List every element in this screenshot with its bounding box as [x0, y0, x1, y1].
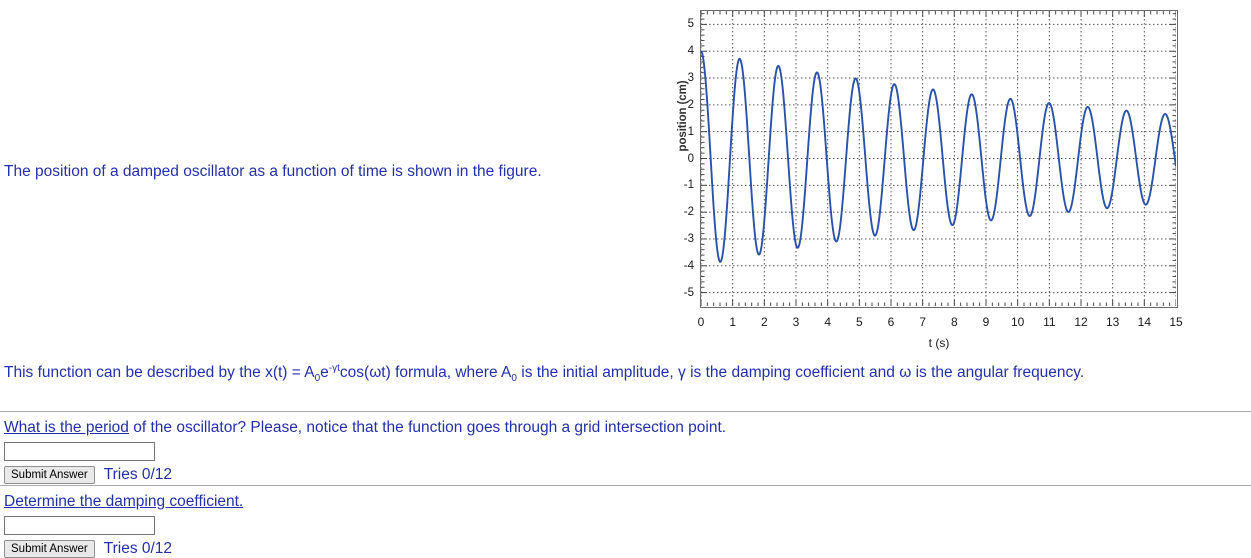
y-tick-label: 0: [688, 153, 694, 165]
formula-sup-1: -γt: [329, 363, 340, 374]
damped-oscillator-figure: position (cm) -5-4-3-2-10123450123456789…: [652, 0, 1192, 358]
formula-part-3: cos(ωt) formula, where A: [340, 364, 511, 381]
question-link-damping[interactable]: Determine the damping coefficient.: [4, 493, 243, 510]
answer-input-damping[interactable]: [4, 516, 155, 535]
x-tick-label: 9: [983, 315, 990, 329]
x-tick-label: 3: [793, 315, 800, 329]
y-tick-label: 1: [688, 126, 694, 138]
y-tick-label: -5: [684, 287, 694, 299]
answer-input-period[interactable]: [4, 442, 155, 461]
plot-frame: -5-4-3-2-10123450123456789101112131415: [700, 10, 1178, 308]
formula-part-4: is the initial amplitude, γ is the dampi…: [517, 364, 1084, 381]
x-tick-label: 11: [1043, 315, 1055, 329]
y-tick-label: -4: [684, 260, 694, 272]
submit-answer-button-period[interactable]: Submit Answer: [4, 466, 95, 484]
x-tick-label: 14: [1138, 315, 1151, 329]
divider-2: [0, 485, 1251, 486]
x-tick-label: 13: [1106, 315, 1119, 329]
x-tick-label: 0: [698, 315, 705, 329]
x-tick-label: 1: [729, 315, 736, 329]
x-tick-label: 10: [1011, 315, 1024, 329]
formula-paragraph: This function can be described by the x(…: [4, 362, 1244, 383]
submit-row-damping: Submit Answer Tries 0/12: [4, 540, 1244, 558]
question-text-damping: Determine the damping coefficient.: [4, 492, 1244, 512]
formula-part-2: e: [320, 364, 329, 381]
oscillation-curve-svg: [701, 11, 1176, 306]
y-tick-label: -3: [684, 233, 694, 245]
x-tick-label: 15: [1169, 315, 1182, 329]
y-tick-label: 5: [688, 18, 694, 30]
question-block-damping: Determine the damping coefficient. Submi…: [4, 492, 1244, 558]
x-tick-label: 6: [888, 315, 895, 329]
tries-counter-damping: Tries 0/12: [104, 540, 172, 558]
question-text-period: What is the period of the oscillator? Pl…: [4, 418, 1244, 438]
x-axis-label: t (s): [700, 336, 1178, 350]
formula-part-1: This function can be described by the x(…: [4, 364, 315, 381]
x-tick-label: 12: [1074, 315, 1087, 329]
plot-area: [701, 11, 1177, 307]
submit-answer-button-damping[interactable]: Submit Answer: [4, 540, 95, 558]
y-tick-label: -2: [684, 206, 694, 218]
tries-counter-period: Tries 0/12: [104, 466, 172, 484]
x-tick-label: 7: [919, 315, 926, 329]
x-tick-label: 8: [951, 315, 958, 329]
x-tick-label: 5: [856, 315, 863, 329]
y-tick-label: 4: [688, 45, 694, 57]
question-link-period[interactable]: What is the period: [4, 419, 129, 436]
top-region: The position of a damped oscillator as a…: [0, 0, 1251, 358]
y-tick-label: -1: [684, 179, 694, 191]
question-block-period: What is the period of the oscillator? Pl…: [4, 418, 1244, 484]
question-rest-period: of the oscillator? Please, notice that t…: [129, 419, 726, 436]
x-tick-label: 4: [824, 315, 831, 329]
x-tick-label: 2: [761, 315, 768, 329]
divider-1: [0, 411, 1251, 412]
y-tick-label: 2: [688, 99, 694, 111]
submit-row-period: Submit Answer Tries 0/12: [4, 466, 1244, 484]
intro-paragraph: The position of a damped oscillator as a…: [4, 162, 649, 182]
y-tick-label: 3: [688, 72, 694, 84]
